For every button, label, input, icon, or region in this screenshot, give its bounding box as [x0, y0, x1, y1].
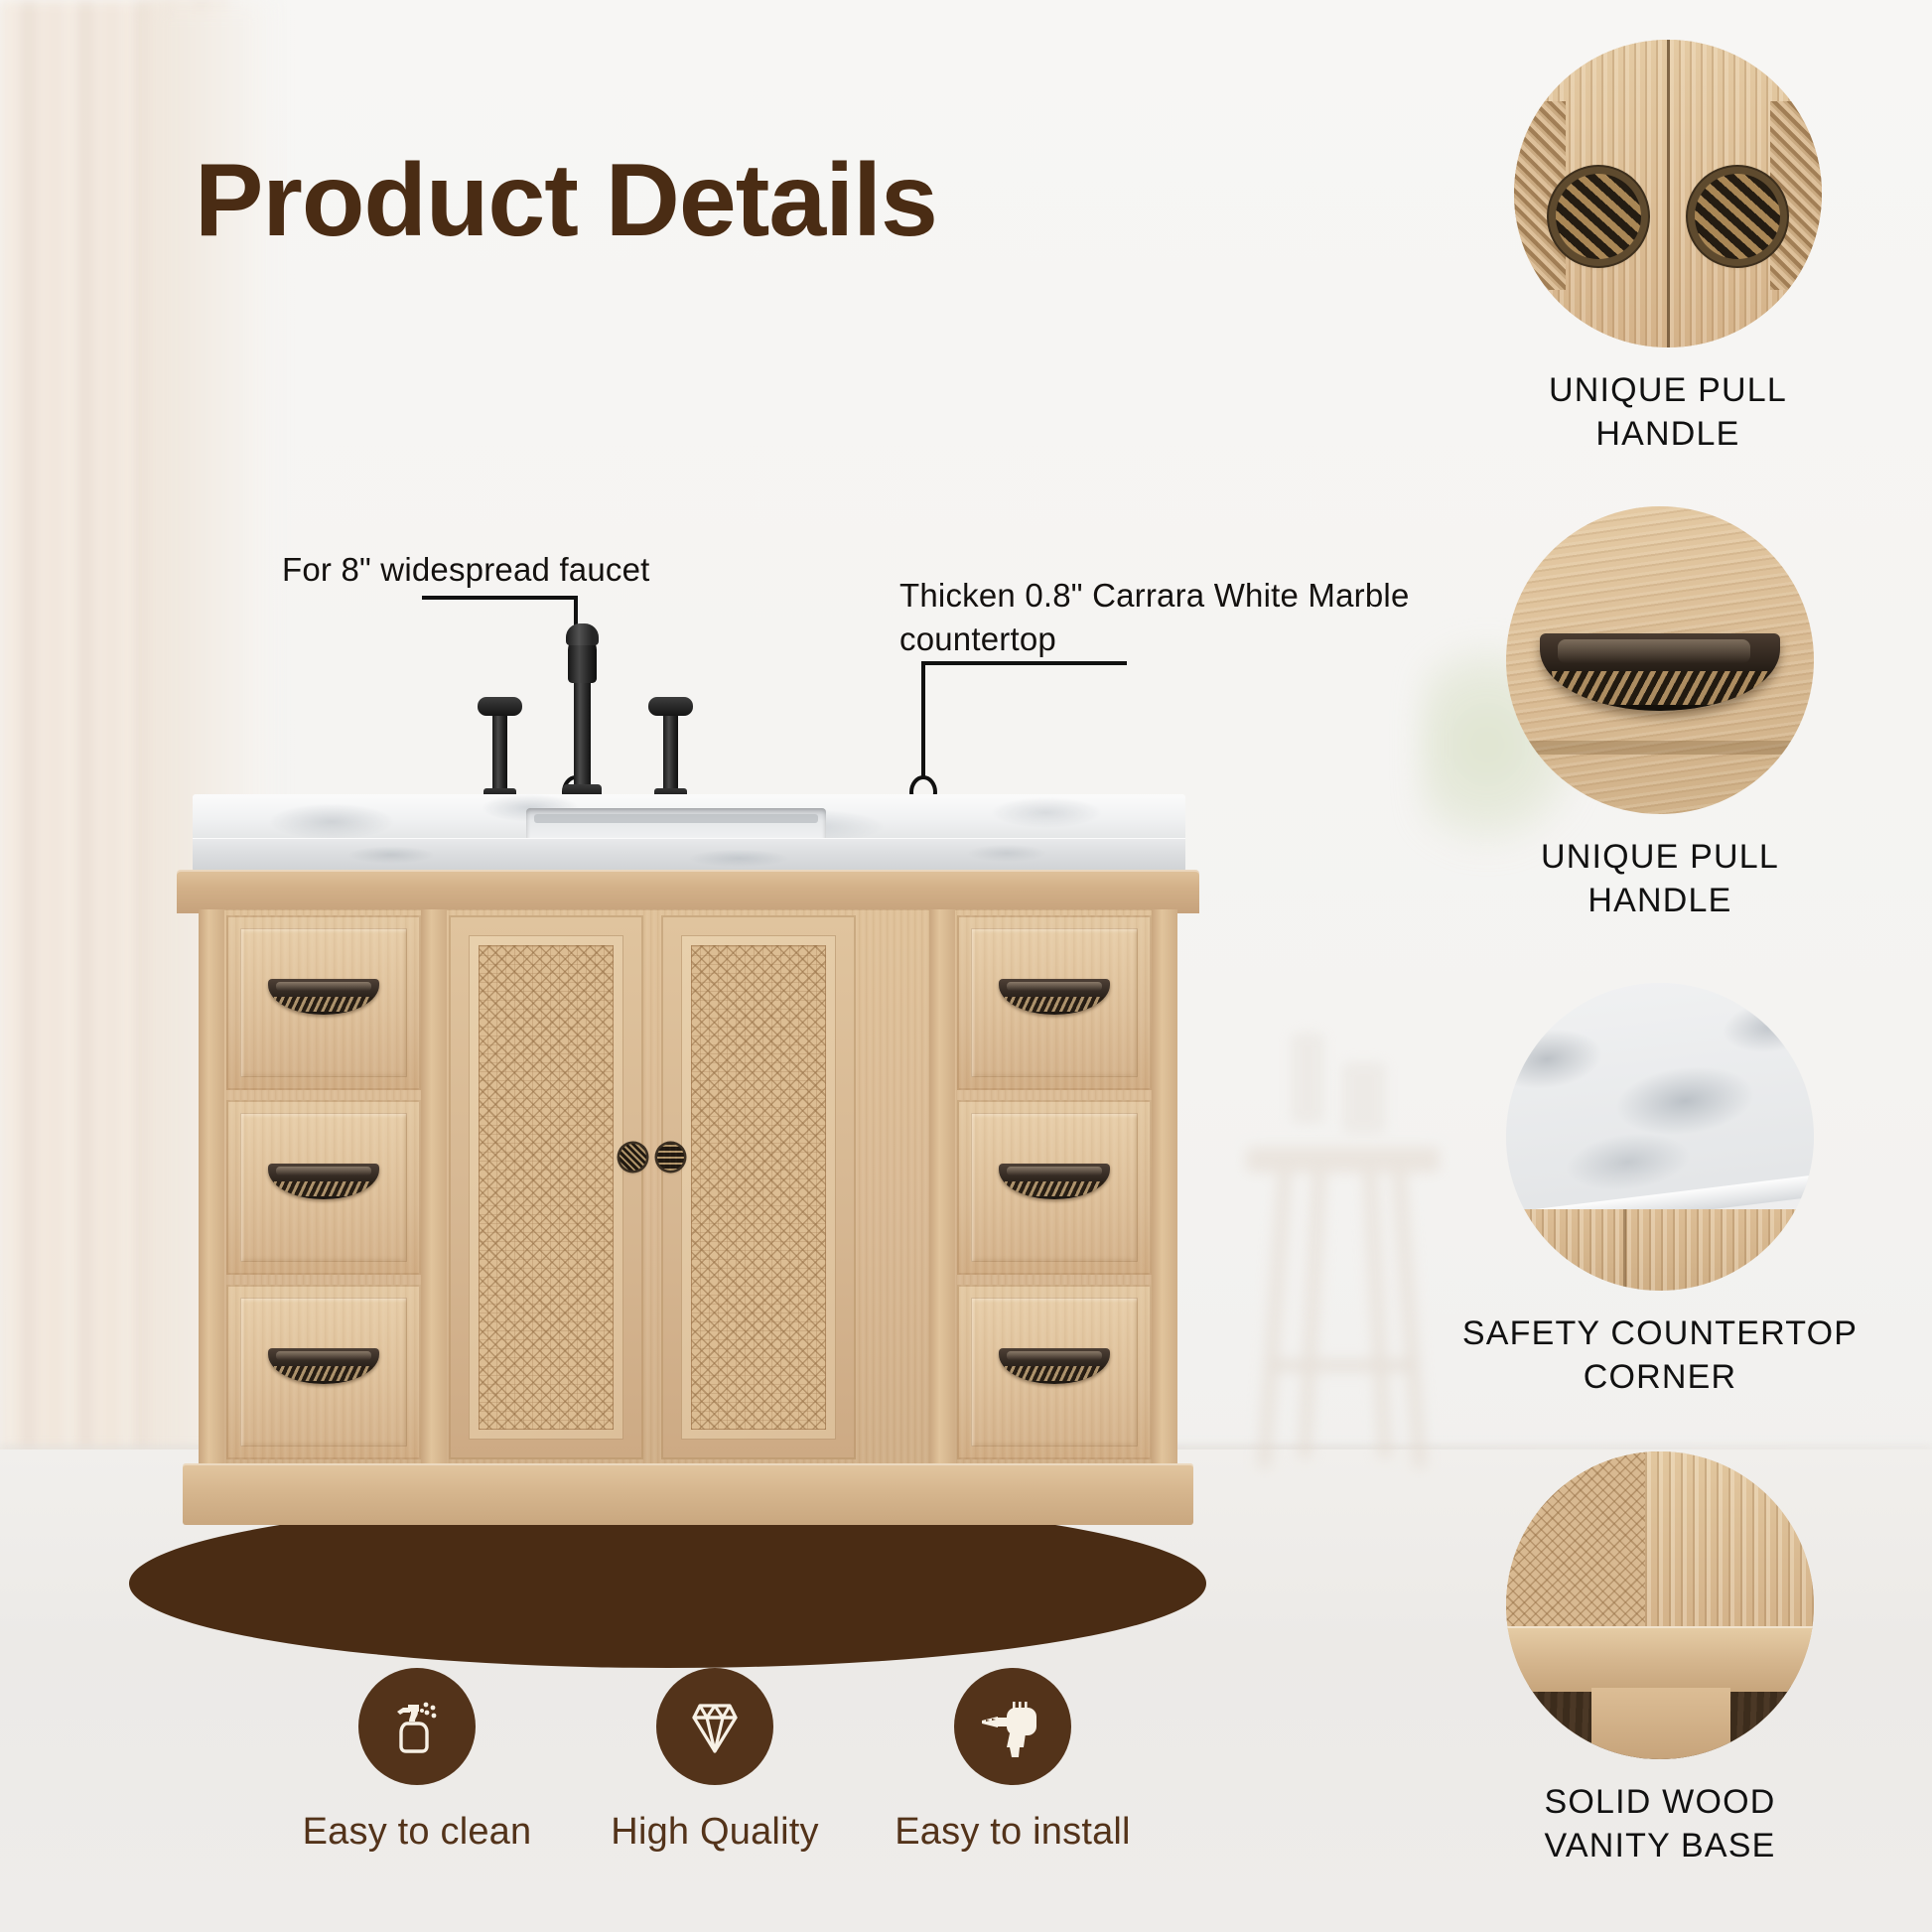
- badge-easy-to-install-label: Easy to install: [864, 1811, 1162, 1854]
- cabinet-stile-mid-left: [421, 909, 447, 1465]
- faucet-handle-left: [492, 711, 507, 798]
- feature-vanity-base-line2: VANITY BASE: [1544, 1827, 1775, 1864]
- feature-countertop-corner-label: SAFETY COUNTERTOP CORNER: [1461, 1312, 1859, 1399]
- cabinet-door-left[interactable]: [449, 915, 643, 1459]
- cup-pull-icon: [1506, 506, 1814, 814]
- feature-cup-pull-label: UNIQUE PULL HANDLE: [1461, 836, 1859, 922]
- cabinet-cornice: [177, 870, 1199, 913]
- feature-cup-pull-line2: HANDLE: [1587, 882, 1731, 919]
- badge-easy-to-clean: Easy to clean: [268, 1668, 566, 1854]
- feature-countertop-corner: SAFETY COUNTERTOP CORNER: [1461, 983, 1859, 1399]
- cabinet-stile-right: [1152, 909, 1177, 1465]
- faucet-spout-cap: [566, 623, 599, 645]
- page-title: Product Details: [195, 149, 937, 252]
- badge-easy-to-clean-label: Easy to clean: [268, 1811, 566, 1854]
- wood-base-icon: [1506, 1451, 1814, 1759]
- badge-high-quality: High Quality: [566, 1668, 864, 1854]
- diamond-icon: [656, 1668, 773, 1785]
- drawer-right-2[interactable]: [957, 1100, 1152, 1275]
- cabinet-stile-left: [199, 909, 224, 1465]
- drawer-right-3[interactable]: [957, 1285, 1152, 1459]
- drawer-left-3[interactable]: [226, 1285, 421, 1459]
- cabinet-stile-mid-right: [929, 909, 955, 1465]
- cane-panel-left: [479, 945, 614, 1430]
- vanity-product-image: [177, 794, 1199, 1579]
- feature-door-knobs-line1: UNIQUE PULL: [1549, 371, 1787, 409]
- cabinet-door-right[interactable]: [661, 915, 856, 1459]
- vanity-cabinet: [177, 870, 1199, 1525]
- callout-faucet-label: For 8" widespread faucet: [282, 548, 650, 592]
- infographic-canvas: Product Details For 8" widespread faucet…: [0, 0, 1932, 1932]
- badge-easy-to-install: Easy to install: [864, 1668, 1162, 1854]
- benefit-badges: Easy to clean High Quality: [248, 1668, 1181, 1896]
- door-knob-left[interactable]: [620, 1144, 646, 1171]
- feature-countertop-corner-line1: SAFETY COUNTERTOP: [1462, 1314, 1858, 1352]
- drawer-left-2[interactable]: [226, 1100, 421, 1275]
- cane-panel-right: [691, 945, 826, 1430]
- marble-countertop: [193, 794, 1185, 872]
- spray-bottle-icon: [358, 1668, 476, 1785]
- power-drill-icon: [954, 1668, 1071, 1785]
- feature-vanity-base-line1: SOLID WOOD: [1544, 1783, 1775, 1821]
- cabinet-plinth: [183, 1463, 1193, 1525]
- faucet-handle-right-cap: [648, 697, 693, 716]
- feature-vanity-base: SOLID WOOD VANITY BASE: [1461, 1451, 1859, 1867]
- feature-door-knobs-line2: HANDLE: [1595, 415, 1739, 453]
- drawer-left-1[interactable]: [226, 915, 421, 1090]
- faucet-handle-left-cap: [478, 697, 522, 716]
- faucet-handle-right: [663, 711, 678, 798]
- door-knob-right[interactable]: [657, 1144, 684, 1171]
- feature-cup-pull: UNIQUE PULL HANDLE: [1461, 506, 1859, 922]
- faucet-spout-body: [574, 675, 591, 796]
- feature-cup-pull-line1: UNIQUE PULL: [1541, 838, 1779, 876]
- background-stool: [1246, 1147, 1440, 1474]
- feature-vanity-base-label: SOLID WOOD VANITY BASE: [1461, 1781, 1859, 1867]
- callout-countertop-label: Thicken 0.8" Carrara White Marble counte…: [899, 574, 1505, 660]
- background-bottle-2: [1342, 1062, 1386, 1134]
- feature-countertop-corner-line2: CORNER: [1584, 1358, 1737, 1396]
- basketweave-knob-icon: [1514, 40, 1822, 347]
- background-bottle-1: [1291, 1033, 1324, 1124]
- drawer-right-1[interactable]: [957, 915, 1152, 1090]
- marble-corner-icon: [1506, 983, 1814, 1291]
- badge-high-quality-label: High Quality: [566, 1811, 864, 1854]
- feature-door-knobs-label: UNIQUE PULL HANDLE: [1469, 369, 1866, 456]
- feature-door-knobs: UNIQUE PULL HANDLE: [1469, 40, 1866, 456]
